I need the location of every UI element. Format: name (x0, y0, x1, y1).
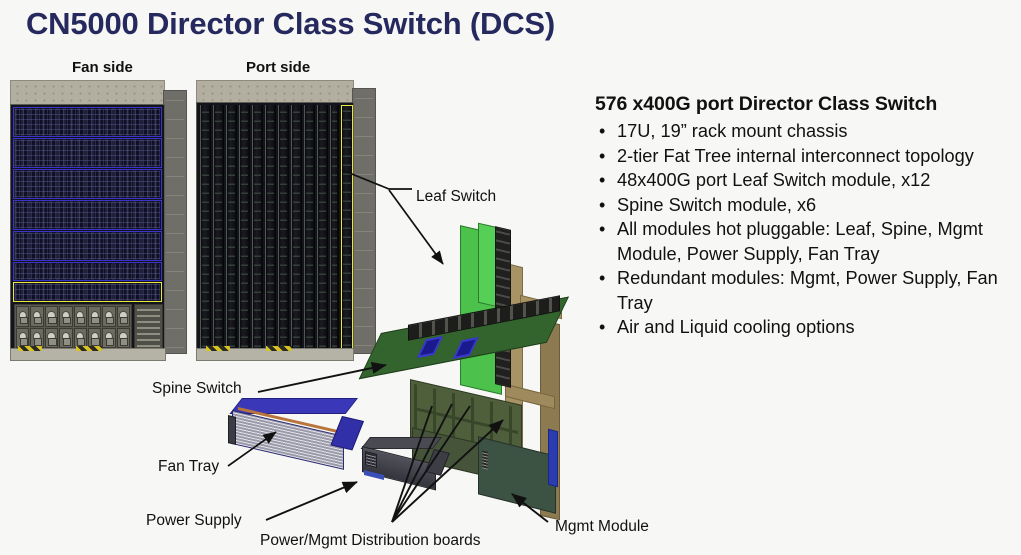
spec-bullet-item: •All modules hot pluggable: Leaf, Spine,… (595, 217, 1015, 266)
spec-bullet-label: 48x400G port Leaf Switch module, x12 (617, 170, 930, 190)
spec-bullet-item: •Spine Switch module, x6 (595, 193, 1015, 217)
psu-cell (16, 306, 29, 327)
leaf-blade-slot (317, 105, 328, 349)
leaf-blade-slot (330, 105, 339, 349)
spec-bullet-item: •2-tier Fat Tree internal interconnect t… (595, 144, 1015, 168)
leaf-blade-slot (252, 105, 263, 349)
mgmt-module-vent (482, 450, 488, 469)
caution-stripe (266, 346, 292, 351)
fan-tray-slot (13, 169, 162, 199)
spec-bullet-label: Redundant modules: Mgmt, Power Supply, F… (617, 268, 998, 312)
psu-cell (30, 328, 43, 349)
fan-tray-slot (13, 107, 162, 137)
bullet-icon: • (599, 193, 605, 217)
bullet-icon: • (599, 119, 605, 143)
spec-bullet-label: All modules hot pluggable: Leaf, Spine, … (617, 219, 983, 263)
bullet-icon: • (599, 168, 605, 192)
fan-tray-slot (13, 200, 162, 230)
psu-cell (45, 328, 58, 349)
chassis-top-face (10, 80, 165, 106)
leaf-blade-slot-highlighted (341, 105, 353, 349)
power-supply-bay (14, 304, 132, 350)
psu-cell (74, 328, 87, 349)
page-title: CN5000 Director Class Switch (DCS) (26, 6, 555, 42)
fan-tray-slot-highlighted (13, 282, 162, 302)
leaf-blade-slot (278, 105, 289, 349)
psu-cell (30, 306, 43, 327)
leaf-blade-slot (291, 105, 302, 349)
psu-cell (74, 306, 87, 327)
psu-cell (59, 328, 72, 349)
callout-spine-switch: Spine Switch (152, 380, 242, 398)
psu-cell (16, 328, 29, 349)
fan-tray-slot (13, 231, 162, 261)
spine-asic-chip (453, 337, 479, 359)
leaf-blade-slot (200, 105, 211, 349)
psu-cell (45, 306, 58, 327)
callout-leaf-switch: Leaf Switch (416, 188, 496, 206)
psu-cell (102, 328, 115, 349)
fan-tray-handle (228, 415, 236, 445)
psu-vent (365, 451, 377, 468)
spec-panel: 576 x400G port Director Class Switch •17… (595, 92, 1015, 340)
spec-bullet-label: Spine Switch module, x6 (617, 195, 816, 215)
mgmt-module-connector (548, 429, 558, 487)
leaf-blade-slot (239, 105, 250, 349)
fan-side-label: Fan side (72, 59, 133, 76)
callout-power-supply: Power Supply (146, 512, 242, 530)
bullet-icon: • (599, 266, 605, 290)
psu-cell (117, 328, 130, 349)
caution-stripe (206, 346, 230, 351)
psu-side (425, 449, 450, 476)
spec-bullet-item: •48x400G port Leaf Switch module, x12 (595, 168, 1015, 192)
callout-power-mgmt-distribution-boards: Power/Mgmt Distribution boards (260, 532, 481, 550)
psu-cell (59, 306, 72, 327)
chassis-top-face (196, 80, 354, 104)
leaf-blade-slot (304, 105, 315, 349)
bullet-icon: • (599, 217, 605, 241)
psu-cell (88, 328, 101, 349)
chassis-front-face (10, 104, 165, 352)
spec-bullet-label: 17U, 19” rack mount chassis (617, 121, 847, 141)
callout-mgmt-module: Mgmt Module (555, 518, 649, 536)
psu-cell (102, 306, 115, 327)
bullet-icon: • (599, 315, 605, 339)
leaf-blade-slot (226, 105, 237, 349)
spec-bullet-label: Air and Liquid cooling options (617, 317, 855, 337)
slide-canvas: CN5000 Director Class Switch (DCS) Fan s… (0, 0, 1021, 555)
callout-fan-tray: Fan Tray (158, 458, 219, 476)
fan-tray-slot (13, 138, 162, 168)
port-side-chassis (196, 80, 376, 365)
spec-heading: 576 x400G port Director Class Switch (595, 92, 1015, 116)
chassis-right-face (163, 90, 187, 354)
psu-top (361, 437, 442, 449)
fan-tray-slot (13, 262, 162, 281)
spec-bullet-item: •Redundant modules: Mgmt, Power Supply, … (595, 266, 1015, 315)
caution-stripe (18, 346, 42, 351)
psu-cell (88, 306, 101, 327)
caution-stripe (76, 346, 102, 351)
leaf-blade-slot (265, 105, 276, 349)
spec-bullet-item: •17U, 19” rack mount chassis (595, 119, 1015, 143)
bullet-icon: • (599, 144, 605, 168)
psu-cell (117, 306, 130, 327)
leaf-blade-slot (213, 105, 224, 349)
spec-bullet-label: 2-tier Fat Tree internal interconnect to… (617, 146, 974, 166)
chassis-front-face (196, 102, 354, 352)
fan-side-chassis (10, 80, 188, 365)
power-supply-module (360, 437, 452, 489)
chassis-right-face (352, 88, 376, 354)
spec-bullet-list: •17U, 19” rack mount chassis•2-tier Fat … (595, 119, 1015, 339)
spec-bullet-item: •Air and Liquid cooling options (595, 315, 1015, 339)
port-side-label: Port side (246, 59, 310, 76)
spine-asic-chip (417, 336, 443, 358)
mgmt-bay (134, 304, 163, 350)
fan-tray-side (330, 416, 364, 450)
fan-tray-module (228, 398, 368, 460)
